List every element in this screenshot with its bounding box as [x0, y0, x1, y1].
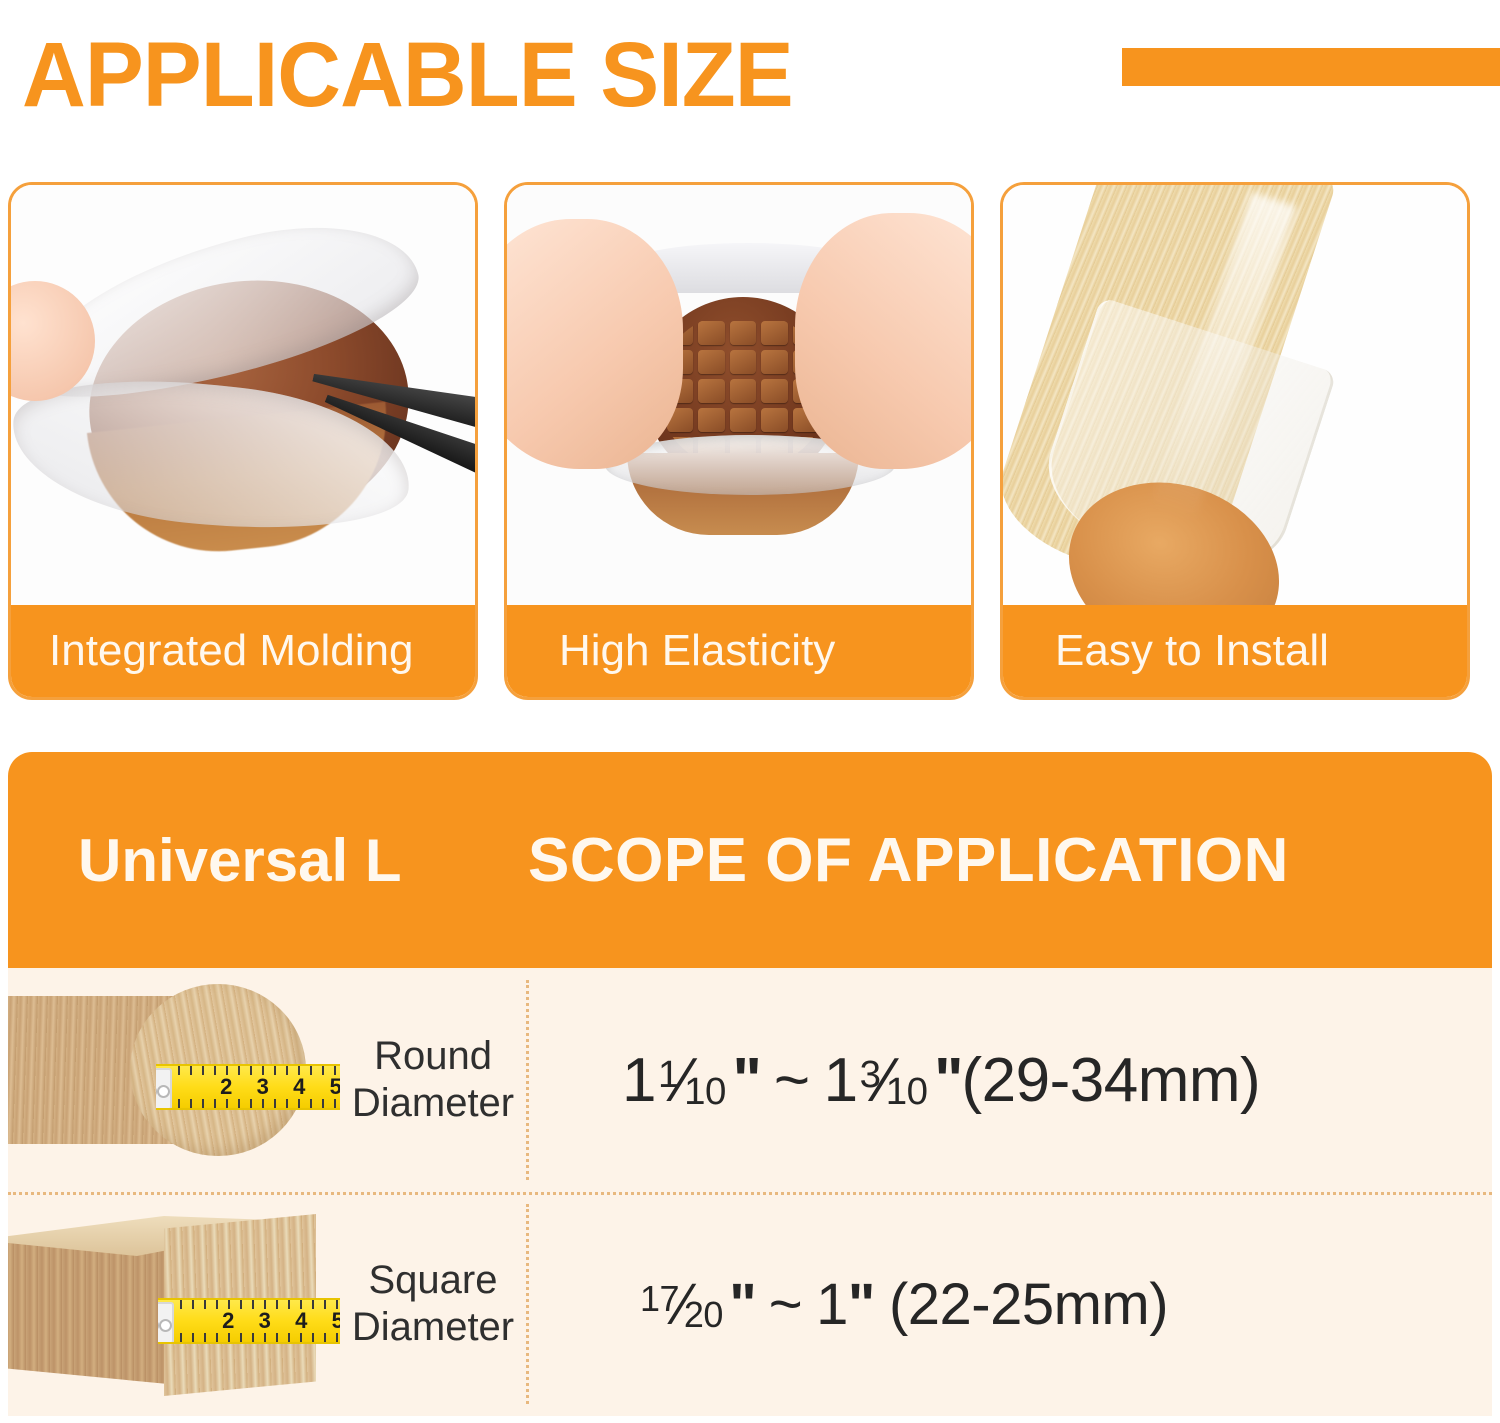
round-from-whole: 1: [622, 1046, 656, 1115]
square-metric: (22-25mm): [889, 1272, 1168, 1337]
tape-number: 3: [259, 1308, 271, 1334]
spec-scope-label: SCOPE OF APPLICATION: [528, 825, 1492, 896]
right-thumb-shape: [795, 213, 971, 469]
round-from-fraction: 1⁄10: [658, 1045, 730, 1116]
tape-measure-square: 2 3 4 5: [158, 1298, 340, 1344]
round-metric: (29-34mm): [961, 1046, 1260, 1115]
round-row-label: Round Diameter: [340, 1033, 526, 1127]
left-thumb-shape: [507, 219, 683, 469]
square-row-label: Square Diameter: [340, 1257, 526, 1351]
tape-numbers: 2 3 4 5: [180, 1066, 340, 1108]
tape-hook-icon: [158, 1302, 174, 1344]
feature-caption: Easy to Install: [1003, 605, 1467, 697]
square-from-fraction: 17⁄20: [640, 1271, 727, 1338]
page-title: APPLICABLE SIZE: [22, 29, 793, 121]
feature-card-high-elasticity: High Elasticity: [504, 182, 974, 700]
label-line-1: Round: [340, 1033, 526, 1080]
title-accent-bar: [1122, 48, 1500, 86]
tape-number: 5: [332, 1308, 340, 1334]
range-separator: ~: [774, 1046, 810, 1115]
feature-photo-integrated-molding: [11, 185, 475, 605]
spec-row-square: 2 3 4 5 Square Diameter 17⁄20"~1" (22-25…: [8, 1192, 1492, 1416]
tape-number: 3: [257, 1074, 269, 1100]
tape-number: 2: [220, 1074, 232, 1100]
inch-mark: ": [934, 1046, 961, 1115]
square-leg-side: [8, 1232, 168, 1384]
tape-measure-round: 2 3 4 5: [156, 1064, 340, 1110]
feature-card-integrated-molding: Integrated Molding: [8, 182, 478, 700]
round-row-value: 11⁄10"~13⁄10"(29-34mm): [526, 1045, 1492, 1116]
feature-photo-easy-to-install: [1003, 185, 1467, 605]
square-leg-illustration: 2 3 4 5: [8, 1192, 340, 1416]
tape-number: 4: [295, 1308, 307, 1334]
label-line-2: Diameter: [340, 1304, 526, 1351]
inch-mark: ": [848, 1272, 874, 1337]
inch-mark: ": [729, 1272, 755, 1337]
tape-number: 5: [330, 1074, 340, 1100]
label-line-2: Diameter: [340, 1080, 526, 1127]
square-row-value: 17⁄20"~1" (22-25mm): [526, 1271, 1492, 1338]
spec-table-header: Universal L SCOPE OF APPLICATION: [8, 752, 1492, 968]
range-separator: ~: [769, 1272, 802, 1337]
tape-number: 2: [222, 1308, 234, 1334]
spec-table: Universal L SCOPE OF APPLICATION 2 3 4 5: [8, 752, 1492, 1416]
round-to-fraction: 3⁄10: [860, 1045, 932, 1116]
round-to-whole: 1: [824, 1046, 858, 1115]
feature-card-list: Integrated Molding High Elasticity: [8, 182, 1492, 702]
tape-number: 4: [293, 1074, 305, 1100]
tape-numbers: 2 3 4 5: [182, 1300, 340, 1342]
spec-row-round: 2 3 4 5 Round Diameter 11⁄10"~13⁄10"(29-…: [8, 968, 1492, 1192]
inch-mark: ": [732, 1046, 759, 1115]
feature-card-easy-to-install: Easy to Install: [1000, 182, 1470, 700]
round-leg-illustration: 2 3 4 5: [8, 968, 340, 1192]
feature-photo-high-elasticity: [507, 185, 971, 605]
spec-size-label: Universal L: [8, 826, 528, 895]
square-to-whole: 1: [816, 1272, 848, 1337]
feature-caption: Integrated Molding: [11, 605, 475, 697]
feature-caption: High Elasticity: [507, 605, 971, 697]
label-line-1: Square: [340, 1257, 526, 1304]
tape-hook-icon: [156, 1068, 172, 1110]
spec-table-body: 2 3 4 5 Round Diameter 11⁄10"~13⁄10"(29-…: [8, 968, 1492, 1416]
